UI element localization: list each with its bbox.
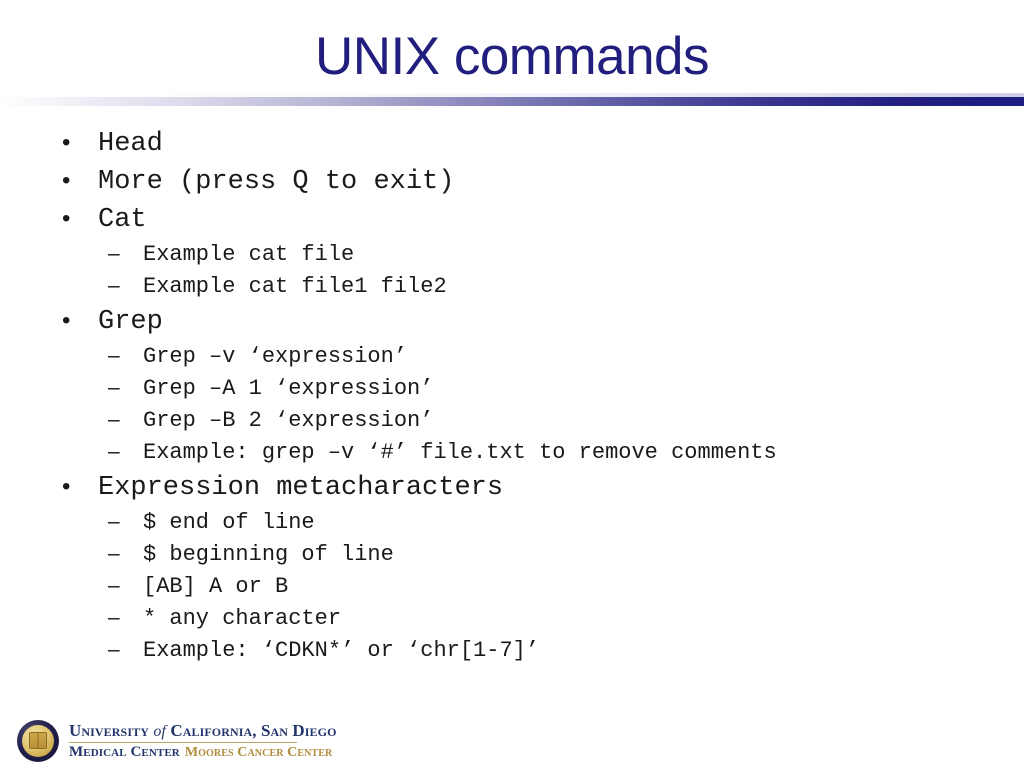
logo-divider	[69, 742, 297, 743]
bullet-text: Example cat file	[143, 239, 354, 271]
bullet-dash-icon: –	[108, 436, 143, 468]
bullet-dash-icon: –	[108, 404, 143, 436]
bullet-dash-icon: –	[108, 602, 143, 634]
bullet-line: –Example cat file1 file2	[0, 270, 1024, 302]
bullet-text: Example: grep –v ‘#’ file.txt to remove …	[143, 437, 777, 469]
bullet-list: •Head•More (press Q to exit)•Cat–Example…	[0, 124, 1024, 666]
bullet-dot-icon: •	[62, 468, 98, 506]
bullet-line: –Grep –B 2 ‘expression’	[0, 404, 1024, 436]
bullet-text: $ end of line	[143, 507, 315, 539]
bullet-dot-icon: •	[62, 200, 98, 238]
ucsd-moores-logo: University of California, San Diego Medi…	[16, 718, 337, 764]
logo-moores-cancer-center: Moores Cancer Center	[185, 745, 332, 760]
logo-university-suffix: California, San Diego	[166, 721, 337, 740]
bullet-line: –Grep –v ‘expression’	[0, 340, 1024, 372]
bullet-dash-icon: –	[108, 372, 143, 404]
bullet-dot-icon: •	[62, 162, 98, 200]
bullet-text: Grep –A 1 ‘expression’	[143, 373, 433, 405]
bullet-text: Grep –B 2 ‘expression’	[143, 405, 433, 437]
bullet-text: Head	[98, 125, 163, 163]
bullet-line: •More (press Q to exit)	[0, 162, 1024, 200]
bullet-dot-icon: •	[62, 124, 98, 162]
bullet-line: •Head	[0, 124, 1024, 162]
bullet-text: [AB] A or B	[143, 571, 288, 603]
bullet-dash-icon: –	[108, 538, 143, 570]
title-rule	[0, 97, 1024, 106]
bullet-text: * any character	[143, 603, 341, 635]
bullet-line: –Example cat file	[0, 238, 1024, 270]
bullet-line: •Expression metacharacters	[0, 468, 1024, 506]
bullet-text: $ beginning of line	[143, 539, 394, 571]
logo-university-prefix: University	[69, 721, 153, 740]
bullet-text: Expression metacharacters	[98, 469, 503, 507]
logo-center-line: Medical CenterMoores Cancer Center	[69, 744, 337, 761]
seal-book-icon	[29, 732, 47, 749]
bullet-text: Example cat file1 file2	[143, 271, 447, 303]
bullet-line: –Example: ‘CDKN*’ or ‘chr[1-7]’	[0, 634, 1024, 666]
bullet-line: –Grep –A 1 ‘expression’	[0, 372, 1024, 404]
bullet-line: –$ beginning of line	[0, 538, 1024, 570]
bullet-dash-icon: –	[108, 634, 143, 666]
bullet-dash-icon: –	[108, 506, 143, 538]
logo-of-word: of	[153, 723, 166, 740]
bullet-dash-icon: –	[108, 570, 143, 602]
bullet-line: –[AB] A or B	[0, 570, 1024, 602]
bullet-dash-icon: –	[108, 238, 143, 270]
bullet-line: –* any character	[0, 602, 1024, 634]
bullet-line: –$ end of line	[0, 506, 1024, 538]
bullet-dash-icon: –	[108, 340, 143, 372]
bullet-line: –Example: grep –v ‘#’ file.txt to remove…	[0, 436, 1024, 468]
bullet-text: Grep	[98, 303, 163, 341]
logo-medical-center: Medical Center	[69, 744, 180, 760]
bullet-line: •Cat	[0, 200, 1024, 238]
bullet-text: Cat	[98, 201, 147, 239]
page-title: UNIX commands	[0, 28, 1024, 86]
slide-canvas: UNIX commands •Head•More (press Q to exi…	[0, 0, 1024, 768]
bullet-text: Grep –v ‘expression’	[143, 341, 407, 373]
logo-wordmark: University of California, San Diego Medi…	[69, 721, 337, 761]
bullet-text: Example: ‘CDKN*’ or ‘chr[1-7]’	[143, 635, 539, 667]
bullet-line: •Grep	[0, 302, 1024, 340]
bullet-dash-icon: –	[108, 270, 143, 302]
bullet-text: More (press Q to exit)	[98, 163, 454, 201]
logo-university-line: University of California, San Diego	[69, 721, 337, 741]
ucsd-seal-icon	[16, 719, 60, 763]
bullet-dot-icon: •	[62, 302, 98, 340]
